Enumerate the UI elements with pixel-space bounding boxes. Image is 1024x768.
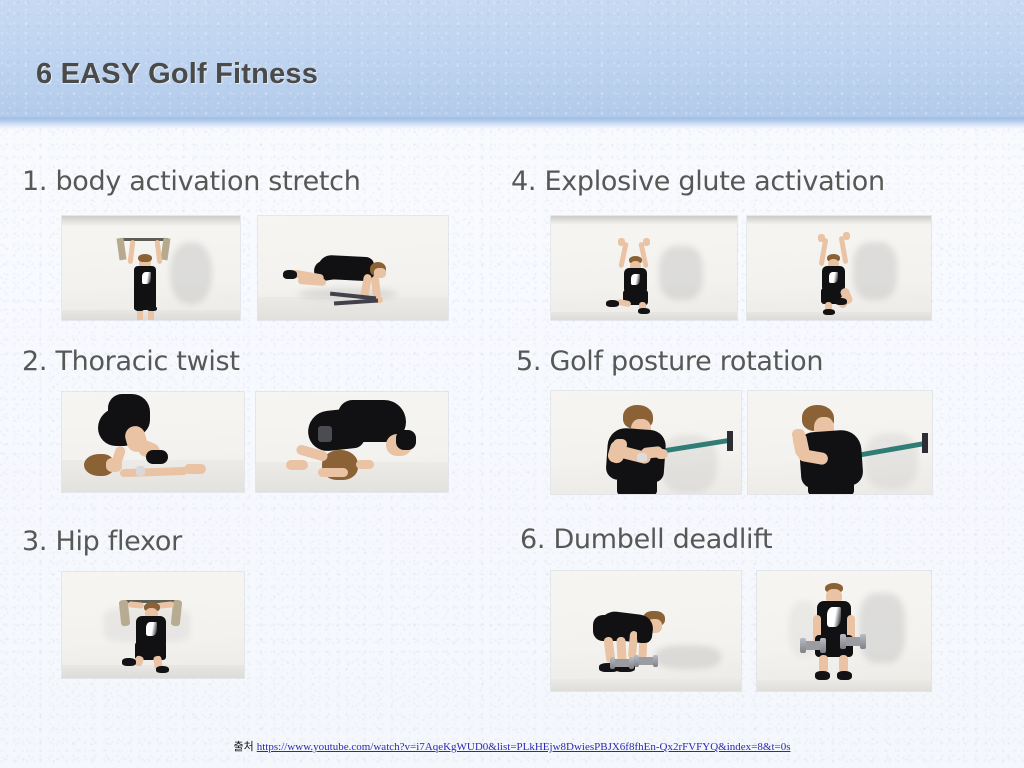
photo-thoracic-twist-2: [256, 392, 448, 492]
source-url-link[interactable]: https://www.youtube.com/watch?v=i7AqeKgW…: [257, 741, 791, 753]
header-accent-stripe-soft: [0, 124, 1024, 129]
page-title: 6 EASY Golf Fitness: [36, 58, 318, 91]
source-label: 출처: [234, 741, 254, 753]
exercise-title-golf-posture-rotation: 5. Golf posture rotation: [516, 346, 823, 377]
photo-dumbell-deadlift-1: [551, 571, 741, 691]
header-accent-stripe: [0, 117, 1024, 124]
photo-golf-posture-rotation-1: [551, 391, 741, 494]
exercise-title-hip-flexor: 3. Hip flexor: [22, 526, 182, 557]
exercise-title-explosive-glute-activation: 4. Explosive glute activation: [511, 166, 885, 197]
photo-golf-posture-rotation-2: [748, 391, 932, 494]
source-line: 출처https://www.youtube.com/watch?v=i7AqeK…: [0, 738, 1024, 754]
photo-body-activation-stretch-1: [62, 216, 240, 320]
exercise-title-dumbell-deadlift: 6. Dumbell deadlift: [520, 524, 772, 555]
photo-explosive-glute-activation-2: [747, 216, 931, 320]
photo-hip-flexor-1: [62, 572, 244, 678]
photo-thoracic-twist-1: [62, 392, 244, 492]
slide-canvas: 6 EASY Golf Fitness 1. body activation s…: [0, 0, 1024, 768]
exercise-title-thoracic-twist: 2. Thoracic twist: [22, 346, 240, 377]
photo-body-activation-stretch-2: [258, 216, 448, 320]
exercise-title-body-activation-stretch: 1. body activation stretch: [22, 166, 361, 197]
photo-dumbell-deadlift-2: [757, 571, 931, 691]
photo-explosive-glute-activation-1: [551, 216, 737, 320]
